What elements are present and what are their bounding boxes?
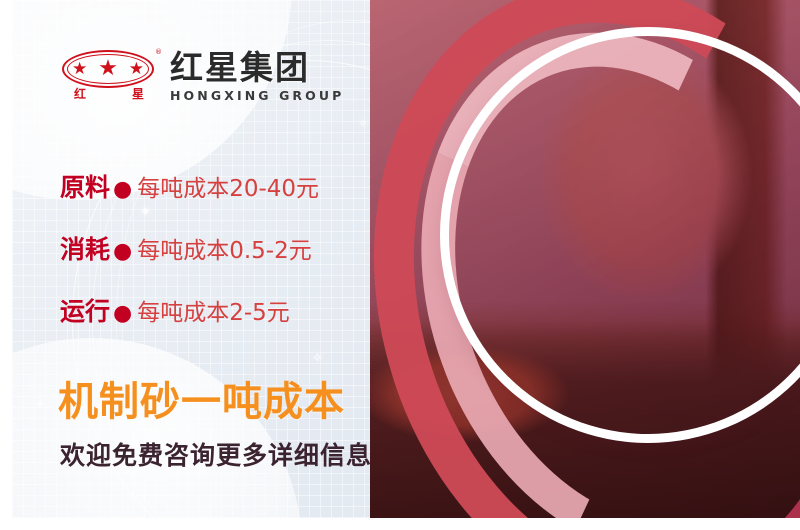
sparkle-icon: ✧ [312, 352, 323, 365]
three-stars-oval-emblem-icon: ★ ★ ★ ® 红 星 [60, 48, 160, 106]
bullet-icon: ● [113, 239, 132, 264]
cost-label: 消耗 [60, 230, 110, 266]
promo-banner: ✦ ✧ ✦ ✧ ✦ ✧ ★ ★ ★ ® [0, 0, 800, 530]
bullet-icon: ● [113, 177, 132, 202]
brand-name-cn: 红星集团 [170, 51, 344, 86]
star-icon: ★ [129, 61, 144, 78]
cost-list: 原料 ● 每吨成本20-40元 消耗 ● 每吨成本0.5-2元 运行 ● 每吨成… [60, 168, 390, 328]
cost-row: 原料 ● 每吨成本20-40元 [60, 168, 390, 204]
brand-name-en: HONGXING GROUP [170, 88, 344, 103]
star-icon: ★ [98, 58, 118, 80]
headline: 机制砂一吨成本 [58, 380, 345, 424]
stars-group: ★ ★ ★ [72, 58, 144, 80]
sparkle-icon: ✦ [36, 400, 44, 410]
cost-value: 每吨成本2-5元 [137, 293, 290, 327]
registered-mark: ® [155, 48, 162, 56]
cost-value: 每吨成本0.5-2元 [137, 231, 312, 265]
emblem-subtext-right: 星 [132, 88, 144, 100]
banner-canvas: ✦ ✧ ✦ ✧ ✦ ✧ ★ ★ ★ ® [12, 0, 800, 518]
cost-label: 运行 [60, 292, 110, 328]
emblem-subtext: 红 星 [66, 88, 152, 100]
subline: 欢迎免费咨询更多详细信息 [60, 441, 372, 471]
cost-value: 每吨成本20-40元 [137, 169, 319, 203]
corner-glow-bottom-left [12, 338, 302, 518]
brand-logo[interactable]: ★ ★ ★ ® 红 星 红星集团 HONGXING GROUP [60, 48, 344, 106]
cost-label: 原料 [60, 168, 110, 204]
emblem-subtext-left: 红 [74, 88, 86, 100]
sparkle-icon: ✧ [358, 118, 367, 129]
brand-wordmark: 红星集团 HONGXING GROUP [170, 51, 344, 103]
bullet-icon: ● [113, 301, 132, 326]
star-icon: ★ [72, 61, 87, 78]
cost-row: 消耗 ● 每吨成本0.5-2元 [60, 230, 390, 266]
cost-row: 运行 ● 每吨成本2-5元 [60, 292, 390, 328]
